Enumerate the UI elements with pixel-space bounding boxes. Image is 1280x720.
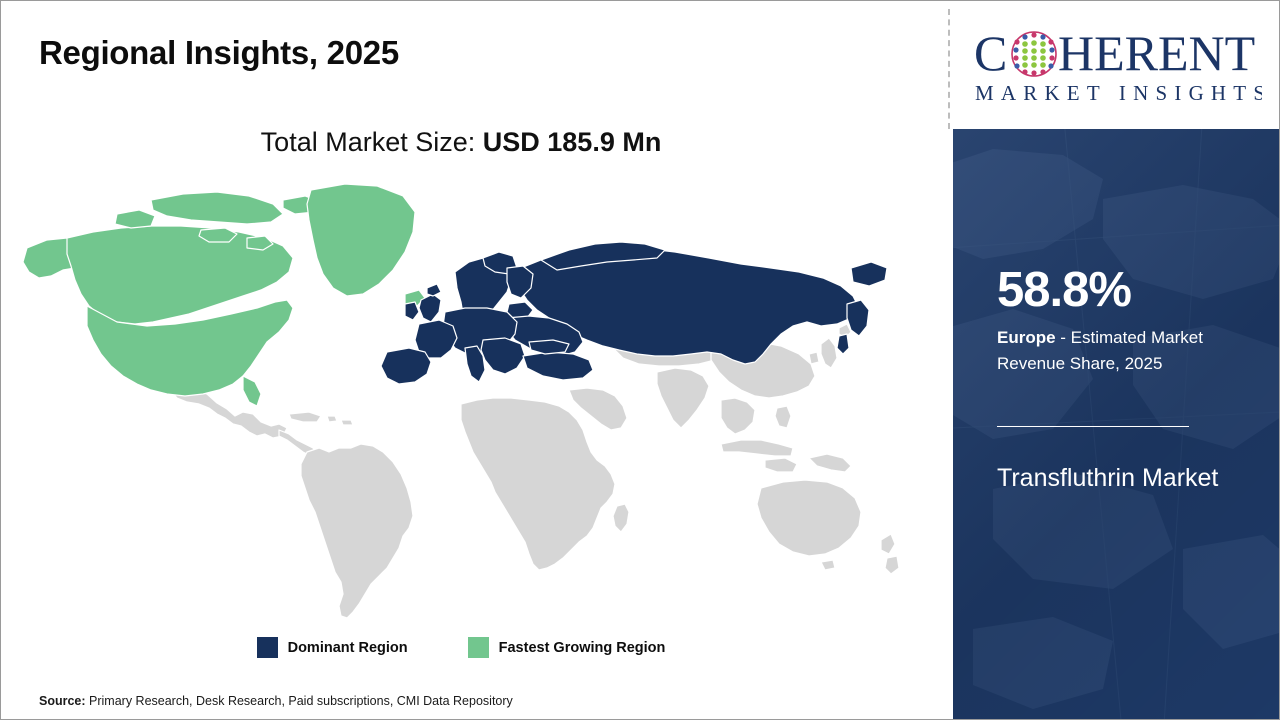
- map-region-fastest-growing: [23, 184, 425, 406]
- vertical-dashed-divider: [948, 9, 950, 129]
- right-panel-content: 58.8% Europe - Estimated Market Revenue …: [997, 129, 1247, 720]
- page-title: Regional Insights, 2025: [39, 34, 399, 72]
- map-legend: Dominant Region Fastest Growing Region: [1, 637, 921, 658]
- svg-text:C: C: [974, 25, 1007, 81]
- world-map: [21, 176, 901, 626]
- total-market-size-value: USD 185.9 Mn: [483, 127, 662, 157]
- source-text: Primary Research, Desk Research, Paid su…: [86, 694, 513, 708]
- panel-divider-rule: [997, 426, 1189, 427]
- dotted-globe-icon: [1012, 32, 1056, 76]
- left-content-panel: Regional Insights, 2025 Total Market Siz…: [1, 1, 948, 720]
- legend-item-fastest-growing-region: Fastest Growing Region: [468, 637, 666, 658]
- market-name: Transfluthrin Market: [997, 462, 1232, 496]
- logo-container: C: [953, 1, 1280, 129]
- stat-value: 58.8%: [997, 266, 1131, 315]
- fastest-growing-region-label: Fastest Growing Region: [499, 640, 666, 656]
- total-market-size-label: Total Market Size:: [261, 127, 476, 157]
- source-label: Source:: [39, 694, 86, 708]
- svg-text:MARKET INSIGHTS: MARKET INSIGHTS: [975, 81, 1262, 105]
- stat-region-name: Europe: [997, 328, 1056, 347]
- legend-item-dominant-region: Dominant Region: [257, 637, 408, 658]
- svg-text:HERENT: HERENT: [1058, 25, 1255, 81]
- source-note: Source: Primary Research, Desk Research,…: [39, 694, 513, 708]
- dominant-region-label: Dominant Region: [288, 640, 408, 656]
- right-stat-panel: 58.8% Europe - Estimated Market Revenue …: [953, 129, 1280, 720]
- stat-caption: Europe - Estimated Market Revenue Share,…: [997, 325, 1237, 376]
- regional-insights-slide: Regional Insights, 2025 Total Market Siz…: [0, 0, 1280, 720]
- fastest-growing-region-swatch: [468, 637, 489, 658]
- dominant-region-swatch: [257, 637, 278, 658]
- coherent-market-insights-logo: C: [972, 22, 1262, 108]
- total-market-size: Total Market Size: USD 185.9 Mn: [1, 127, 921, 158]
